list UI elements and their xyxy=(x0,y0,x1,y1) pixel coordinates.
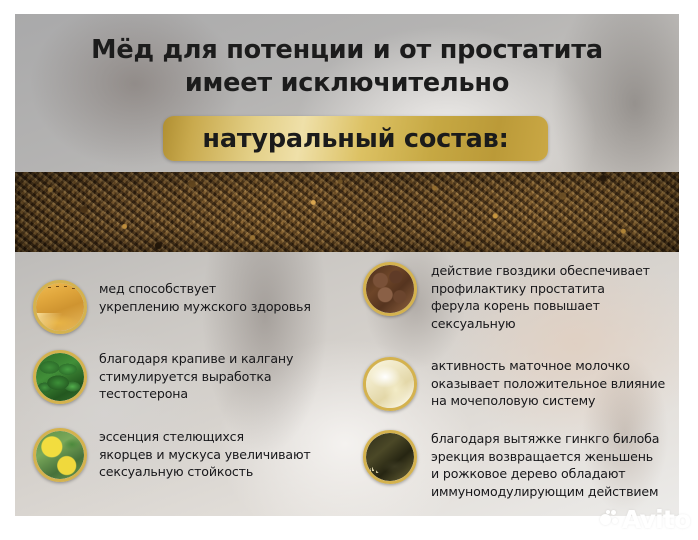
benefit-item: активность маточное молочко оказывает по… xyxy=(363,357,665,411)
highlight-banner: натуральный состав: xyxy=(163,116,548,161)
benefit-text: благодаря крапиве и калгану стимулируетс… xyxy=(99,350,293,403)
benefit-item: мед способствует укреплению мужского здо… xyxy=(33,280,311,334)
benefit-item: эссенция стелющихся якорцев и мускуса ув… xyxy=(33,428,311,482)
benefit-text: действие гвоздики обеспечивает профилакт… xyxy=(431,262,650,332)
benefit-text: благодаря вытяжке гинкго билоба эрекция … xyxy=(431,430,659,500)
avito-watermark: Avito xyxy=(600,505,690,533)
ginkgo-root-icon xyxy=(363,430,417,484)
royal-jelly-icon xyxy=(363,357,417,411)
page-title: Мёд для потенции и от простатита имеет и… xyxy=(15,34,679,100)
benefit-item: благодаря крапиве и калгану стимулируетс… xyxy=(33,350,293,404)
benefit-item: действие гвоздики обеспечивает профилакт… xyxy=(363,262,650,332)
title-line-2: имеет исключительно xyxy=(15,67,679,100)
nettle-leaves-icon xyxy=(33,350,87,404)
honey-dipper-icon xyxy=(33,280,87,334)
avito-dots-icon xyxy=(600,510,619,529)
highlight-label: натуральный состав: xyxy=(163,116,548,161)
yellow-flower-icon xyxy=(33,428,87,482)
screenshot-canvas: Мёд для потенции и от простатита имеет и… xyxy=(0,0,698,540)
ground-spice-texture-band xyxy=(15,172,679,252)
avito-wordmark: Avito xyxy=(622,507,690,532)
benefit-text: эссенция стелющихся якорцев и мускуса ув… xyxy=(99,428,311,481)
advertisement-card: Мёд для потенции и от простатита имеет и… xyxy=(15,14,679,516)
clove-buds-icon xyxy=(363,262,417,316)
benefits-section: мед способствует укреплению мужского здо… xyxy=(15,252,679,516)
benefit-item: благодаря вытяжке гинкго билоба эрекция … xyxy=(363,430,659,500)
benefit-text: активность маточное молочко оказывает по… xyxy=(431,357,665,410)
title-line-1: Мёд для потенции и от простатита xyxy=(15,34,679,67)
benefit-text: мед способствует укреплению мужского здо… xyxy=(99,280,311,315)
header-section: Мёд для потенции и от простатита имеет и… xyxy=(15,14,679,172)
